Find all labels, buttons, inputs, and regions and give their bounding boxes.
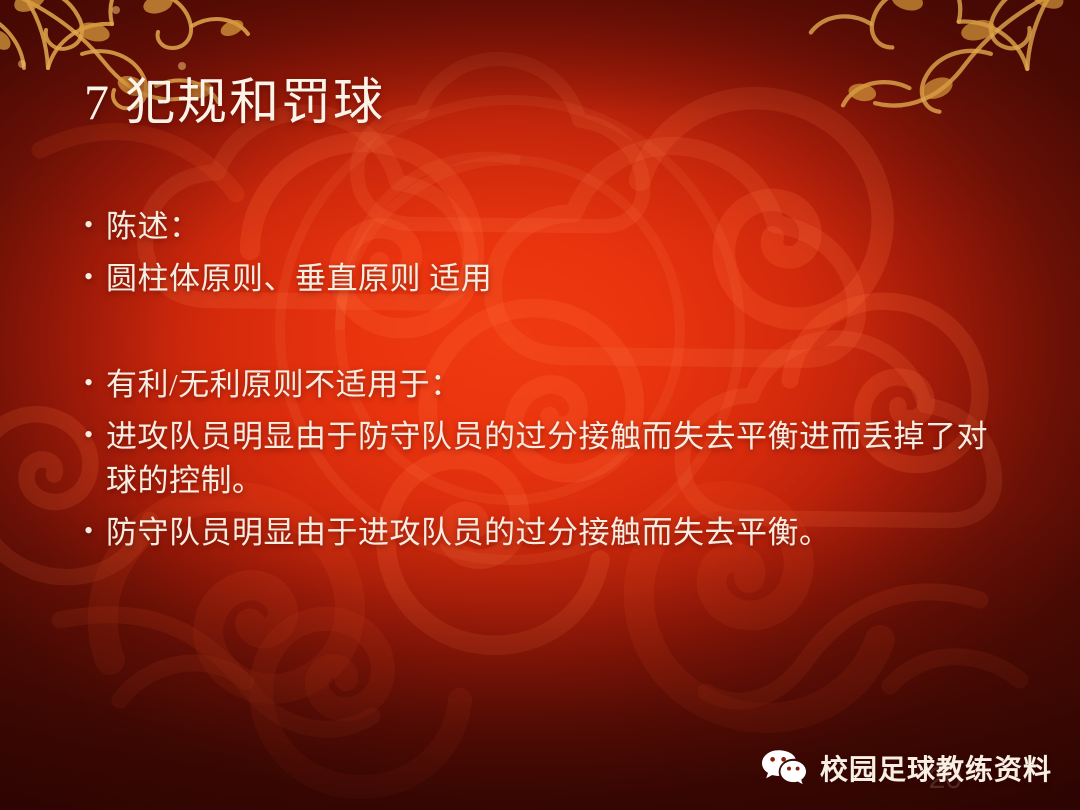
- bullet-text-1: 陈述：: [106, 205, 1014, 249]
- bullet-item-1: • 陈述：: [84, 205, 1014, 249]
- bullet-item-4: • 进攻队员明显由于防守队员的过分接触而失去平衡进而丢掉了对球的控制。: [84, 415, 1014, 503]
- watermark-account-name: 校园足球教练资料: [820, 748, 1052, 788]
- bullet-marker-icon: •: [84, 511, 106, 551]
- bullet-item-5: • 防守队员明显由于进攻队员的过分接触而失去平衡。: [84, 511, 1014, 555]
- bullet-marker-icon: •: [84, 257, 106, 297]
- presentation-slide: 7犯规和罚球 • 陈述： • 圆柱体原则、垂直原则 适用 • 有利/无利原则不适…: [0, 0, 1080, 810]
- slide-body: • 陈述： • 圆柱体原则、垂直原则 适用 • 有利/无利原则不适用于： • 进…: [84, 205, 1014, 555]
- bullet-item-2: • 圆柱体原则、垂直原则 适用: [84, 257, 1014, 301]
- bullet-spacer: [84, 503, 1014, 511]
- bullet-marker-icon: •: [84, 415, 106, 455]
- slide-title-text: 犯规和罚球: [125, 74, 385, 130]
- bullet-marker-icon: •: [84, 205, 106, 245]
- bullet-group-gap: [84, 301, 1014, 363]
- bullet-marker-icon: •: [84, 363, 106, 403]
- slide-title-number: 7: [84, 74, 111, 130]
- wechat-watermark: 校园足球教练资料: [761, 748, 1052, 788]
- bullet-text-4: 进攻队员明显由于防守队员的过分接触而失去平衡进而丢掉了对球的控制。: [106, 415, 1014, 503]
- bullet-text-3: 有利/无利原则不适用于：: [106, 363, 1014, 407]
- bullet-item-3: • 有利/无利原则不适用于：: [84, 363, 1014, 407]
- bullet-text-2: 圆柱体原则、垂直原则 适用: [106, 257, 1014, 301]
- bullet-text-5: 防守队员明显由于进攻队员的过分接触而失去平衡。: [106, 511, 1014, 555]
- bullet-spacer: [84, 249, 1014, 257]
- wechat-icon: [761, 748, 807, 788]
- slide-title: 7犯规和罚球: [84, 74, 385, 130]
- bullet-spacer: [84, 407, 1014, 415]
